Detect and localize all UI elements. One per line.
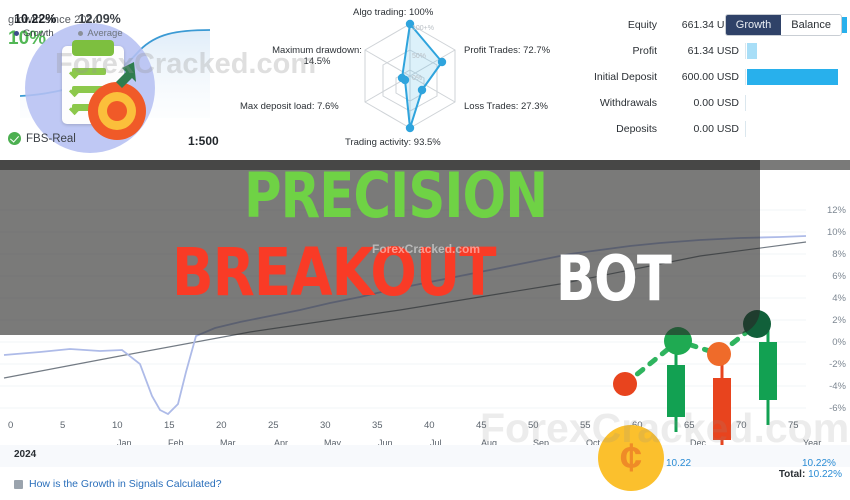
stat-bar-fill — [747, 43, 757, 59]
stat-bar-fill — [747, 69, 838, 85]
footer-total-label: Total: — [779, 469, 805, 480]
info-square-icon — [14, 480, 23, 489]
svg-text:0%: 0% — [412, 75, 422, 82]
broker-row: FBS-Real — [8, 132, 76, 145]
legend-average-label-row: Average — [78, 28, 122, 39]
y-tick-neg2: -2% — [806, 359, 846, 370]
chart-view-tabs[interactable]: Growth Balance — [725, 14, 842, 36]
legend-average-dot — [78, 31, 83, 36]
stat-label: Equity — [585, 12, 657, 38]
legend-average: 12.09% Average — [78, 12, 122, 39]
signal-stats-screenshot: growth since 2024 10% FBS-Real 1:500 — [0, 0, 850, 500]
x-tick-30: 30 — [320, 420, 331, 431]
table-row: Initial Deposit 600.00 USD — [585, 64, 850, 90]
stat-bar-track — [745, 95, 846, 111]
x-tick-0: 0 — [8, 420, 13, 431]
footer-year-value: 10.22% — [802, 458, 836, 469]
x-tick-25: 25 — [268, 420, 279, 431]
y-tick-8: 8% — [806, 249, 846, 260]
leverage-value: 1:500 — [188, 134, 219, 148]
x-tick-15: 15 — [164, 420, 175, 431]
y-tick-12: 12% — [806, 205, 846, 216]
watermark-small: ForexCracked.com — [372, 242, 480, 256]
broker-name: FBS-Real — [26, 133, 76, 145]
table-row: Deposits 0.00 USD — [585, 116, 850, 142]
watermark-top: ForexCracked.com — [55, 48, 316, 81]
footer-month-value: 10.22 — [666, 458, 691, 469]
tab-balance[interactable]: Balance — [781, 15, 841, 35]
watermark-big: ForexCracked.com — [480, 405, 849, 452]
faq-link[interactable]: How is the Growth in Signals Calculated? — [29, 478, 222, 490]
table-row: Profit 61.34 USD — [585, 38, 850, 64]
svg-text:50%: 50% — [412, 53, 426, 60]
chart-legend: 10.22% Growth 12.09% Average — [14, 12, 123, 39]
legend-growth-label: Growth — [23, 28, 54, 39]
legend-growth: 10.22% Growth — [14, 12, 56, 39]
legend-average-label: Average — [87, 28, 122, 39]
stat-value: 600.00 USD — [667, 64, 739, 90]
y-tick-2: 2% — [806, 315, 846, 326]
radar-label-profit-trades: Profit Trades: 72.7% — [464, 45, 550, 56]
stat-value: 61.34 USD — [667, 38, 739, 64]
x-tick-20: 20 — [216, 420, 227, 431]
y-tick-10: 10% — [806, 227, 846, 238]
footer-total-value: 10.22% — [808, 469, 842, 480]
target-ring-mid — [98, 92, 136, 130]
y-tick-0: 0% — [806, 337, 846, 348]
promo-title-line1: PRECISION — [244, 165, 547, 227]
footer-year: 2024 — [14, 449, 36, 460]
radar-label-max-deposit-load: Max deposit load: 7.6% — [240, 101, 339, 112]
legend-growth-value: 10.22% — [14, 12, 56, 26]
x-tick-35: 35 — [372, 420, 383, 431]
footer-total: Total: 10.22% — [779, 469, 842, 480]
radar-label-trading-activity: Trading activity: 93.5% — [345, 137, 441, 148]
stat-bar-track — [745, 43, 846, 59]
stat-bar-track — [745, 121, 846, 137]
stat-value: 0.00 USD — [667, 90, 739, 116]
verified-check-icon — [8, 132, 21, 145]
target-bullseye — [107, 101, 127, 121]
stat-label: Withdrawals — [585, 90, 657, 116]
stat-bar-track — [745, 69, 846, 85]
legend-growth-dot — [14, 31, 19, 36]
x-tick-5: 5 — [60, 420, 65, 431]
x-tick-40: 40 — [424, 420, 435, 431]
stat-value: 0.00 USD — [667, 116, 739, 142]
svg-text:100+%: 100+% — [412, 25, 434, 32]
stat-label: Initial Deposit — [585, 64, 657, 90]
table-row: Withdrawals 0.00 USD — [585, 90, 850, 116]
x-tick-10: 10 — [112, 420, 123, 431]
y-tick-4: 4% — [806, 293, 846, 304]
promo-title-line3: BOT — [556, 248, 671, 310]
y-tick-6: 6% — [806, 271, 846, 282]
radar-label-algo-trading: Algo trading: 100% — [353, 7, 433, 18]
radar-label-loss-trades: Loss Trades: 27.3% — [464, 101, 548, 112]
stat-label: Profit — [585, 38, 657, 64]
legend-average-value: 12.09% — [78, 12, 122, 26]
y-tick-neg4: -4% — [806, 381, 846, 392]
stat-label: Deposits — [585, 116, 657, 142]
faq-link-row[interactable]: How is the Growth in Signals Calculated? — [14, 478, 222, 490]
tab-growth[interactable]: Growth — [726, 15, 781, 35]
legend-growth-label-row: Growth — [14, 28, 56, 39]
